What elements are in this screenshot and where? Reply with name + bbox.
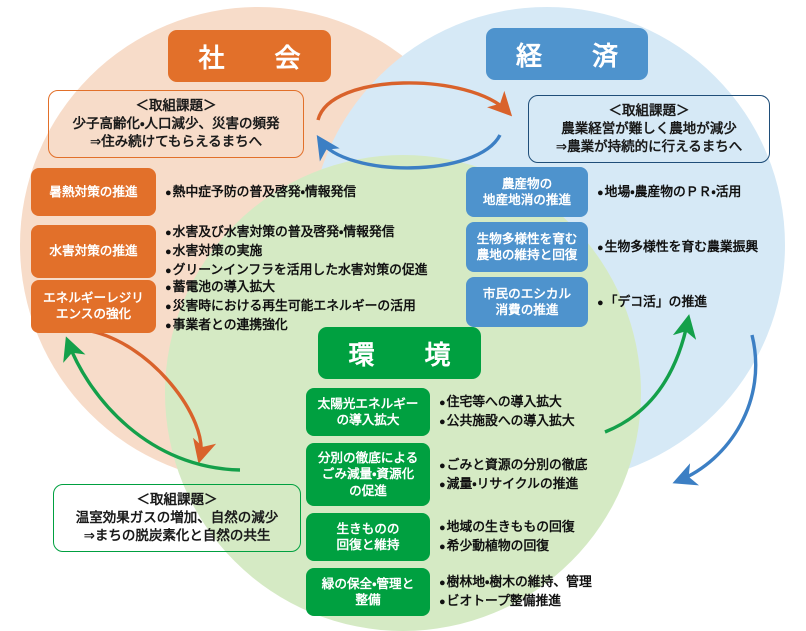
measure-row-social-0[interactable]: 暑熱対策の推進 熱中症予防の普及啓発・情報発信 [31,168,356,216]
measure-item-social-2-1: 災害時における再生可能エネルギーの活用 [165,297,416,316]
measure-label-social-2-line-0: エネルギーレジリ [43,290,144,306]
measure-items-social-0: 熱中症予防の普及啓発・情報発信 [165,183,356,202]
task-box-environment-line1: 温室効果ガスの増加、自然の減少 [76,509,279,527]
measure-label-environment-3-line-0: 緑の保全・管理と [322,576,414,592]
measure-label-environment-3-line-1: 整備 [355,592,380,608]
measure-label-environment-3[interactable]: 緑の保全・管理と 整備 [306,568,430,616]
task-box-economy-line1: 農業経営が難しく農地が減少 [561,120,737,138]
task-box-social-line2: ⇒住み続けてもらえるまちへ [90,133,262,151]
measure-row-economy-0[interactable]: 農産物の 地産地消の推進 地場・農産物のＰＲ・活用 [466,167,741,217]
section-header-environment-label: 環 境 [336,335,462,372]
measure-label-environment-1[interactable]: 分別の徹底による ごみ減量・資源化 の促進 [306,443,430,506]
task-box-environment: ＜取組課題＞ 温室効果ガスの増加、自然の減少 ⇒まちの脱炭素化と自然の共生 [53,484,301,552]
measure-label-economy-2-line-1: 消費の推進 [496,302,559,318]
section-header-economy[interactable]: 経 済 [486,28,648,80]
measure-label-environment-1-line-2: の促進 [349,483,387,499]
section-header-social-label: 社 会 [186,38,312,75]
task-box-environment-line2: ⇒まちの脱炭素化と自然の共生 [84,527,271,545]
task-box-social-heading: ＜取組課題＞ [136,97,217,115]
task-box-economy-heading: ＜取組課題＞ [609,102,690,120]
measure-item-social-2-0: 蓄電池の導入拡大 [165,278,416,297]
measure-label-environment-1-line-1: ごみ減量・資源化 [322,466,414,482]
measure-label-social-2[interactable]: エネルギーレジリ エンスの強化 [31,280,156,333]
measure-item-environment-0-0: 住宅等への導入拡大 [439,393,575,412]
measure-label-economy-0-line-1: 地産地消の推進 [483,192,571,208]
measure-label-economy-1-line-0: 生物多様性を育む [477,231,578,247]
measure-items-environment-3: 樹林地・樹木の維持、管理 ビオトープ整備推進 [439,573,592,611]
measure-label-economy-2-line-0: 市民のエシカル [483,286,571,302]
measure-label-environment-0-line-1: の導入拡大 [337,412,400,428]
measure-row-environment-0[interactable]: 太陽光エネルギー の導入拡大 住宅等への導入拡大 公共施設への導入拡大 [306,388,575,436]
measure-items-economy-0: 地場・農産物のＰＲ・活用 [597,183,741,202]
section-header-social[interactable]: 社 会 [168,30,331,82]
measure-item-social-0-0: 熱中症予防の普及啓発・情報発信 [165,183,356,202]
task-box-economy: ＜取組課題＞ 農業経営が難しく農地が減少 ⇒農業が持続的に行えるまちへ [528,95,770,163]
measure-label-environment-2-line-1: 回復と維持 [337,537,400,553]
measure-label-environment-1-line-0: 分別の徹底による [318,450,418,466]
measure-label-environment-2-line-0: 生きものの [337,521,400,537]
measure-item-environment-3-0: 樹林地・樹木の維持、管理 [439,573,592,592]
measure-label-economy-1-line-1: 農地の維持と回復 [477,247,578,263]
measure-item-economy-0-0: 地場・農産物のＰＲ・活用 [597,183,741,202]
measure-label-social-2-line-1: エンスの強化 [56,306,131,322]
section-header-economy-label: 経 済 [504,36,630,73]
measure-items-environment-0: 住宅等への導入拡大 公共施設への導入拡大 [439,393,575,431]
measure-row-environment-1[interactable]: 分別の徹底による ごみ減量・資源化 の促進 ごみと資源の分別の徹底 減量・リサイ… [306,443,587,506]
measure-label-social-1-line-0: 水害対策の推進 [49,243,137,259]
measure-label-social-1[interactable]: 水害対策の推進 [31,225,156,278]
measure-item-social-1-0: 水害及び水害対策の普及啓発・情報発信 [165,223,428,242]
measure-label-social-0[interactable]: 暑熱対策の推進 [31,168,156,216]
measure-item-economy-1-0: 生物多様性を育む農業振興 [597,238,758,257]
measure-item-environment-2-0: 地域の生きももの回復 [439,518,575,537]
measure-item-economy-2-0: 「デコ活」の推進 [597,293,707,312]
diagram-canvas: 社 会 ＜取組課題＞ 少子高齢化・人口減少、災害の頻発 ⇒住み続けてもらえるまち… [0,0,806,631]
section-header-environment[interactable]: 環 境 [318,327,481,379]
measure-item-environment-0-1: 公共施設への導入拡大 [439,412,575,431]
measure-item-social-1-2: グリーンインフラを活用した水害対策の促進 [165,261,428,280]
measure-items-economy-2: 「デコ活」の推進 [597,293,707,312]
measure-item-environment-3-1: ビオトープ整備推進 [439,592,592,611]
measure-label-economy-1[interactable]: 生物多様性を育む 農地の維持と回復 [466,222,588,272]
measure-label-economy-0[interactable]: 農産物の 地産地消の推進 [466,167,588,217]
task-box-environment-heading: ＜取組課題＞ [137,491,218,509]
measure-items-economy-1: 生物多様性を育む農業振興 [597,238,758,257]
content-layer: 社 会 ＜取組課題＞ 少子高齢化・人口減少、災害の頻発 ⇒住み続けてもらえるまち… [0,0,806,631]
task-box-social-line1: 少子高齢化・人口減少、災害の頻発 [72,115,279,133]
measure-row-environment-3[interactable]: 緑の保全・管理と 整備 樹林地・樹木の維持、管理 ビオトープ整備推進 [306,568,592,616]
task-box-economy-line2: ⇒農業が持続的に行えるまちへ [556,138,742,156]
measure-label-environment-0[interactable]: 太陽光エネルギー の導入拡大 [306,388,430,436]
measure-item-environment-1-1: 減量・リサイクルの推進 [439,475,587,494]
task-box-social: ＜取組課題＞ 少子高齢化・人口減少、災害の頻発 ⇒住み続けてもらえるまちへ [48,90,304,158]
measure-item-environment-1-0: ごみと資源の分別の徹底 [439,456,587,475]
measure-label-social-0-line-0: 暑熱対策の推進 [49,184,137,200]
measure-item-social-1-1: 水害対策の実施 [165,242,428,261]
measure-items-environment-1: ごみと資源の分別の徹底 減量・リサイクルの推進 [439,456,587,494]
measure-item-environment-2-1: 希少動植物の回復 [439,537,575,556]
measure-label-economy-2[interactable]: 市民のエシカル 消費の推進 [466,277,588,327]
measure-label-economy-0-line-0: 農産物の [502,176,552,192]
measure-items-environment-2: 地域の生きももの回復 希少動植物の回復 [439,518,575,556]
measure-items-social-1: 水害及び水害対策の普及啓発・情報発信 水害対策の実施 グリーンインフラを活用した… [165,223,428,280]
measure-row-environment-2[interactable]: 生きものの 回復と維持 地域の生きももの回復 希少動植物の回復 [306,513,575,561]
measure-row-economy-2[interactable]: 市民のエシカル 消費の推進 「デコ活」の推進 [466,277,707,327]
measure-label-environment-0-line-0: 太陽光エネルギー [318,396,419,412]
measure-row-social-1[interactable]: 水害対策の推進 水害及び水害対策の普及啓発・情報発信 水害対策の実施 グリーンイ… [31,223,428,280]
measure-row-economy-1[interactable]: 生物多様性を育む 農地の維持と回復 生物多様性を育む農業振興 [466,222,758,272]
measure-label-environment-2[interactable]: 生きものの 回復と維持 [306,513,430,561]
